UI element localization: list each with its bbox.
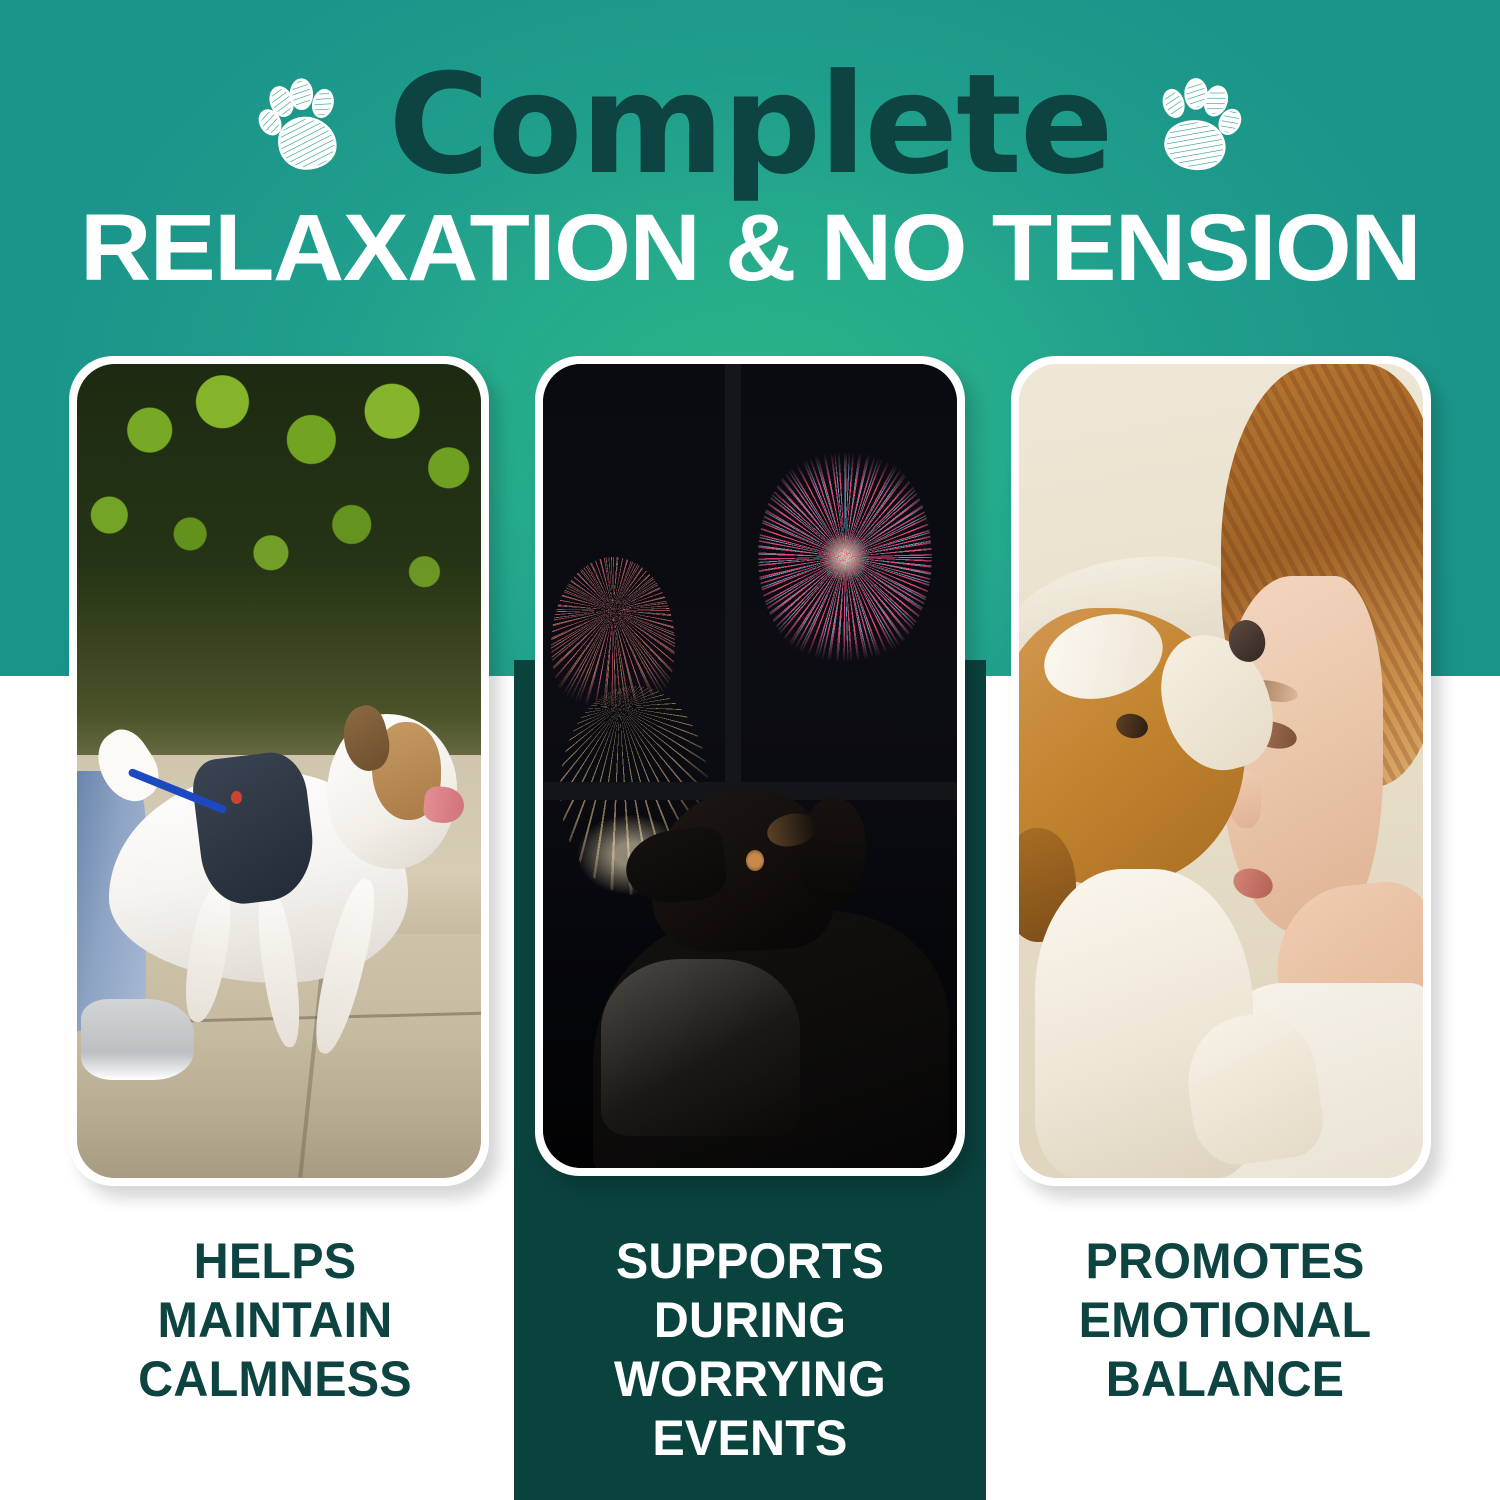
firework-burst-large: [758, 444, 932, 669]
headline-script-word: Complete: [388, 56, 1111, 194]
window-mullion-vertical: [725, 364, 741, 830]
caption-line: EVENTS: [541, 1409, 958, 1468]
headline-primary-row: Complete: [0, 56, 1500, 194]
photo-card-calmness[interactable]: [69, 356, 489, 1186]
promo-banner: Complete RELAXATION & NO TENSION: [0, 0, 1500, 1500]
headline-subtitle: RELAXATION & NO TENSION: [0, 200, 1500, 297]
caption-line: DURING: [541, 1291, 958, 1350]
dog-chest-fur: [601, 959, 800, 1136]
paw-print-icon: [1139, 66, 1260, 184]
caption-line: HELPS: [67, 1232, 482, 1291]
photo-card-worrying-events[interactable]: [535, 356, 965, 1176]
caption-line: MAINTAIN: [67, 1291, 482, 1350]
caption-line: PROMOTES: [1017, 1232, 1432, 1291]
caption-line: BALANCE: [1017, 1350, 1432, 1409]
caption-row: HELPS MAINTAIN CALMNESS SUPPORTS DURING …: [0, 1232, 1500, 1468]
caption-line: CALMNESS: [67, 1350, 482, 1409]
caption-worrying-events: SUPPORTS DURING WORRYING EVENTS: [541, 1232, 958, 1468]
caption-line: SUPPORTS: [541, 1232, 958, 1291]
dog-walking-on-leash-photo: [77, 364, 481, 1178]
harness-red-button: [231, 791, 242, 804]
dog-watching-fireworks-photo: [543, 364, 957, 1168]
photo-card-emotional-balance[interactable]: [1011, 356, 1431, 1186]
headline-block: Complete RELAXATION & NO TENSION: [0, 56, 1500, 297]
firework-burst-small: [551, 557, 675, 734]
photo-card-row: [0, 356, 1500, 1196]
paw-print-icon: [239, 65, 362, 185]
caption-calmness: HELPS MAINTAIN CALMNESS: [67, 1232, 482, 1468]
child-and-dog-sleeping-photo: [1019, 364, 1423, 1178]
person-sneaker: [81, 999, 194, 1080]
caption-line: WORRYING: [541, 1350, 958, 1409]
caption-emotional-balance: PROMOTES EMOTIONAL BALANCE: [1017, 1232, 1432, 1468]
caption-line: EMOTIONAL: [1017, 1291, 1432, 1350]
